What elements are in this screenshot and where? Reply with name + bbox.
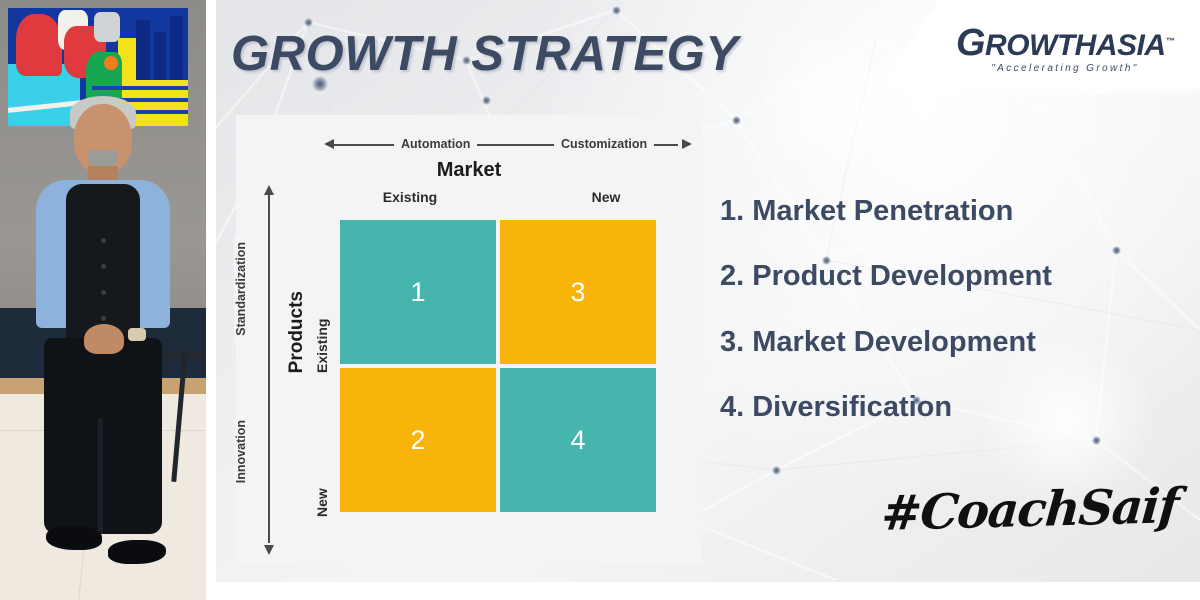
trademark-icon: ™ bbox=[1166, 36, 1175, 46]
network-node bbox=[732, 116, 741, 125]
coach-signature: #CoachSaif bbox=[879, 478, 1179, 542]
matrix-grid: 1 3 2 4 bbox=[340, 220, 656, 512]
list-item: 2. Product Development bbox=[720, 261, 1182, 291]
axis-label-standardization: Standardization bbox=[234, 235, 252, 343]
presenter-figure bbox=[28, 88, 178, 600]
axis-label-customization: Customization bbox=[554, 137, 654, 151]
mural-ball bbox=[104, 56, 118, 70]
network-node bbox=[482, 96, 491, 105]
list-item: 1. Market Penetration bbox=[720, 196, 1182, 226]
mural-building-3 bbox=[170, 16, 183, 80]
mural-figure-red bbox=[16, 14, 62, 76]
vest-button-1 bbox=[101, 238, 106, 243]
mural-building-1 bbox=[136, 20, 150, 80]
slide-stage: GROWTH STRATEGY GROWTHASIA™ "Acceleratin… bbox=[0, 0, 1200, 600]
brand-logo-asia: ASIA bbox=[1096, 29, 1166, 62]
row-header-existing: Existing bbox=[314, 233, 330, 373]
presentation-slide: GROWTH STRATEGY GROWTHASIA™ "Acceleratin… bbox=[216, 0, 1200, 582]
arrow-up-icon bbox=[264, 185, 274, 195]
axis-label-innovation: Innovation bbox=[234, 413, 252, 490]
axis-label-automation: Automation bbox=[394, 137, 477, 151]
presenter-video-panel bbox=[0, 0, 206, 600]
brand-logo-tagline: "Accelerating Growth" bbox=[946, 63, 1184, 74]
vertical-axis-line bbox=[268, 195, 270, 543]
arrow-left-icon bbox=[324, 139, 334, 149]
matrix-cell-2[interactable]: 2 bbox=[340, 368, 496, 512]
row-header-new: New bbox=[314, 377, 330, 517]
strategy-list: 1. Market Penetration 2. Product Develop… bbox=[720, 196, 1182, 458]
presenter-shoe-right bbox=[108, 540, 166, 564]
vest-button-4 bbox=[101, 316, 106, 321]
ansoff-matrix-card: Automation Customization Market Existing… bbox=[236, 115, 702, 565]
column-group-header: Market bbox=[236, 159, 702, 182]
slide-bottom-margin bbox=[216, 582, 1200, 600]
column-header-existing: Existing bbox=[340, 189, 480, 205]
brand-logo-growth: ROWTH bbox=[985, 29, 1096, 62]
network-node bbox=[772, 466, 781, 475]
horizontal-axis: Automation Customization bbox=[320, 137, 692, 153]
column-header-new: New bbox=[536, 189, 676, 205]
arrow-down-icon bbox=[264, 545, 274, 555]
row-group-header: Products bbox=[286, 291, 308, 373]
presenter-shoe-left bbox=[46, 526, 102, 550]
arrow-right-icon bbox=[682, 139, 692, 149]
list-item: 3. Market Development bbox=[720, 327, 1182, 357]
matrix-cell-1[interactable]: 1 bbox=[340, 220, 496, 364]
presenter-trousers bbox=[44, 338, 162, 534]
trouser-seam bbox=[98, 418, 103, 534]
bg-glow-2 bbox=[756, 30, 906, 180]
brand-logo-wordmark: GROWTHASIA™ bbox=[946, 24, 1184, 63]
mural-figure-gray bbox=[94, 12, 120, 42]
wristwatch bbox=[128, 328, 146, 341]
presenter-hands bbox=[84, 324, 124, 354]
network-node bbox=[612, 6, 621, 15]
brand-logo: GROWTHASIA™ "Accelerating Growth" bbox=[946, 24, 1184, 76]
logo-banner-accent bbox=[900, 88, 1200, 94]
mural-building-2 bbox=[154, 32, 166, 80]
list-item: 4. Diversification bbox=[720, 392, 1182, 422]
brand-logo-initial: G bbox=[956, 22, 985, 64]
matrix-cell-4[interactable]: 4 bbox=[500, 368, 656, 512]
matrix-cell-3[interactable]: 3 bbox=[500, 220, 656, 364]
vest-button-3 bbox=[101, 290, 106, 295]
page-title: GROWTH STRATEGY bbox=[231, 26, 738, 82]
vertical-axis: Standardization Innovation bbox=[260, 183, 278, 555]
vest-button-2 bbox=[101, 264, 106, 269]
